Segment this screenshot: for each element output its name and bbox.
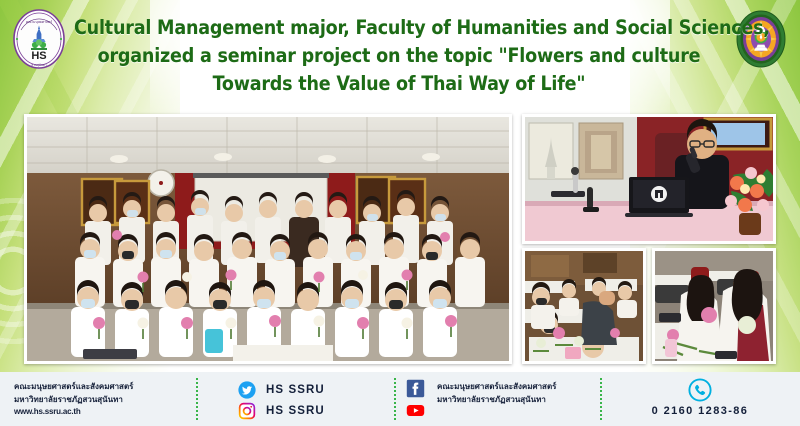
website-url[interactable]: www.hs.ssru.ac.th	[14, 406, 190, 419]
photo-collage	[0, 112, 800, 370]
phone-block: 0 2160 1283-86	[612, 378, 788, 417]
title-line-3: Towards the Value of Thai Way of Life"	[74, 70, 724, 98]
social-handles-block: HS SSRU	[238, 380, 325, 422]
workshop-photo-instructor	[522, 248, 646, 364]
instagram-handle: HS SSRU	[266, 405, 325, 417]
twitter-icon	[238, 381, 256, 399]
poster-header: คณะมนุษยศาสตร์ HS สวนสุนันทา	[0, 0, 800, 112]
page-links-block: คณะมนุษยศาสตร์และสังคมศาสตร์ มหาวิทยาลัย…	[406, 379, 556, 420]
workshop-photo-students	[652, 248, 776, 364]
page-name-block: คณะมนุษยศาสตร์และสังคมศาสตร์ มหาวิทยาลัย…	[437, 379, 556, 406]
faculty-name-th: คณะมนุษยศาสตร์และสังคมศาสตร์	[14, 381, 190, 394]
instagram-icon	[238, 402, 256, 420]
footer-divider-2	[394, 378, 396, 420]
page-university-name-th: มหาวิทยาลัยราชภัฏสวนสุนันทา	[437, 394, 556, 407]
title-line-2: organized a seminar project on the topic…	[74, 42, 724, 70]
hs-faculty-seal-icon: คณะมนุษยศาสตร์ HS สวนสุนันทา	[8, 8, 70, 70]
twitter-handle: HS SSRU	[266, 384, 325, 396]
title-line-1: Cultural Management major, Faculty of Hu…	[74, 14, 724, 42]
phone-number[interactable]: 0 2160 1283-86	[612, 405, 788, 417]
poster-canvas: คณะมนุษยศาสตร์ HS สวนสุนันทา	[0, 0, 800, 426]
svg-text:HS: HS	[31, 50, 46, 62]
youtube-icon[interactable]	[406, 401, 425, 420]
footer-divider-3	[600, 378, 602, 420]
phone-icon	[688, 378, 712, 402]
faculty-address-block: คณะมนุษยศาสตร์และสังคมศาสตร์ มหาวิทยาลัย…	[14, 381, 190, 419]
group-photo-seminar-participants	[24, 114, 512, 364]
footer-divider-1	[196, 378, 198, 420]
page-faculty-name-th: คณะมนุษยศาสตร์และสังคมศาสตร์	[437, 381, 556, 394]
twitter-row[interactable]: HS SSRU	[238, 380, 325, 399]
facebook-icon[interactable]	[406, 379, 425, 398]
speaker-presentation-photo	[522, 114, 776, 244]
instagram-row[interactable]: HS SSRU	[238, 401, 325, 420]
university-name-th: มหาวิทยาลัยราชภัฏสวนสุนันทา	[14, 394, 190, 407]
page-icons	[406, 379, 425, 420]
poster-footer: คณะมนุษยศาสตร์และสังคมศาสตร์ มหาวิทยาลัย…	[0, 372, 800, 426]
poster-title: Cultural Management major, Faculty of Hu…	[74, 14, 724, 98]
